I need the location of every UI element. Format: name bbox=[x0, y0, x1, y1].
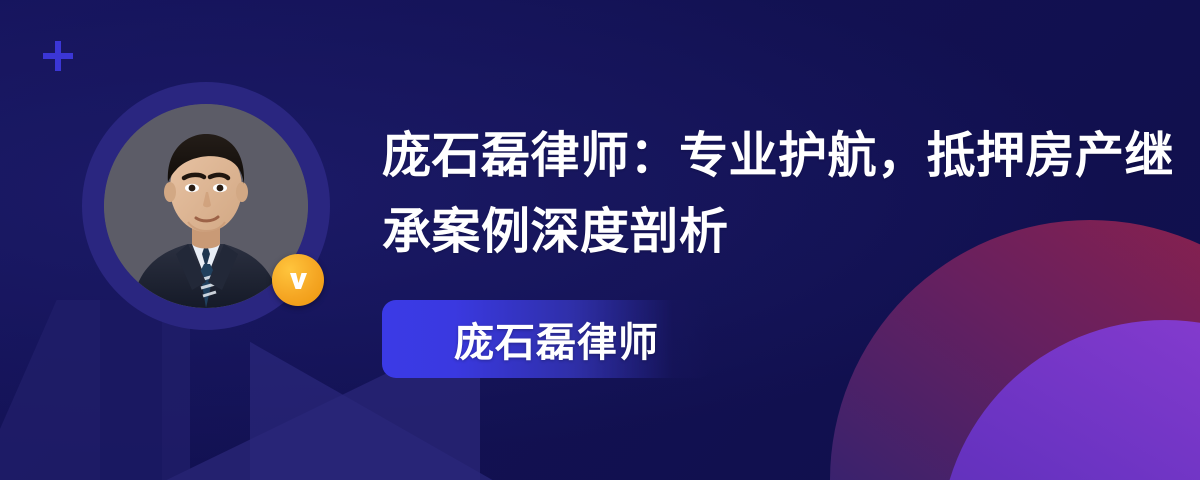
plus-icon bbox=[40, 38, 76, 74]
page-title: 庞石磊律师：专业护航，抵押房产继承案例深度剖析 bbox=[382, 118, 1182, 270]
verified-badge-icon bbox=[272, 254, 324, 306]
headline-block: 庞石磊律师：专业护航，抵押房产继承案例深度剖析 bbox=[382, 118, 1182, 270]
lawyer-name-label: 庞石磊律师 bbox=[454, 310, 659, 368]
lawyer-name-badge[interactable]: 庞石磊律师 bbox=[382, 300, 712, 378]
avatar[interactable] bbox=[82, 82, 330, 330]
lawyer-promo-banner: 庞石磊律师：专业护航，抵押房产继承案例深度剖析 庞石磊律师 bbox=[0, 0, 1200, 480]
